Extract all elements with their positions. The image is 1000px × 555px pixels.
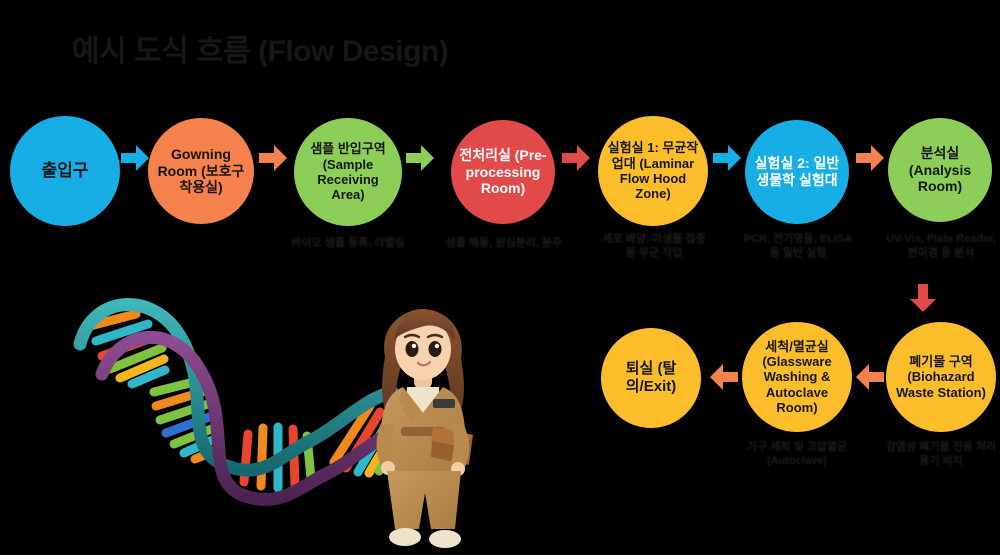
arrow-washing-to-exit	[709, 362, 739, 392]
flow-node-lab-1-laminar-flow-hood[interactable]: 실험실 1: 무균작업대 (Laminar Flow Hood Zone)	[598, 116, 708, 226]
arrow-lab1-to-lab2	[712, 143, 742, 173]
flow-node-label: 실험실 1: 무균작업대 (Laminar Flow Hood Zone)	[604, 140, 702, 201]
flow-node-label: 퇴실 (탈의/Exit)	[607, 360, 695, 395]
flow-node-label: 폐기물 구역 (Biohazard Waste Station)	[892, 354, 990, 400]
flow-node-sample-receiving-area[interactable]: 샘플 반입구역 (Sample Receiving Area)	[294, 118, 402, 226]
flow-node-caption-lab-2-general-biology-bench: PCR, 전기영동, ELISA 등 일반 실험	[742, 232, 854, 260]
arrow-sample-to-preprocessing	[405, 143, 435, 173]
flow-node-lab-2-general-biology-bench[interactable]: 실험실 2: 일반 생물학 실험대	[745, 120, 849, 224]
scientist-character-illustration	[345, 305, 500, 555]
flow-node-glassware-washing-autoclave-room[interactable]: 세척/멸균실 (Glassware Washing & Autoclave Ro…	[742, 322, 852, 432]
flow-node-biohazard-waste-station[interactable]: 폐기물 구역 (Biohazard Waste Station)	[886, 322, 996, 432]
flow-node-label: 실험실 2: 일반 생물학 실험대	[751, 155, 843, 188]
flow-node-label: 분석실 (Analysis Room)	[894, 145, 986, 195]
flow-node-entrance[interactable]: 출입구	[10, 116, 120, 226]
flow-diagram-canvas: 예시 도식 흐름 (Flow Design)	[0, 0, 1000, 555]
flow-node-caption-analysis-room: UV-Vis, Plate Reader, 현미경 등 분석	[886, 232, 996, 260]
flow-node-caption-pre-processing-room: 샘플 해동, 원심분리, 분주	[445, 236, 563, 250]
flow-node-label: 전처리실 (Pre-processing Room)	[457, 147, 549, 197]
flow-node-caption-glassware-washing-autoclave-room: 기구 세척 및 고압멸균(Autoclave)	[740, 440, 854, 468]
flow-node-label: 세척/멸균실 (Glassware Washing & Autoclave Ro…	[748, 339, 846, 416]
page-title: 예시 도식 흐름 (Flow Design)	[72, 26, 448, 70]
flow-node-label: 출입구	[16, 161, 114, 181]
flow-node-caption-lab-1-laminar-flow-hood: 세포 배양, 미생물 접종 등 무균 작업	[597, 232, 711, 260]
arrow-entrance-to-gowning	[120, 143, 150, 173]
flow-node-caption-sample-receiving-area: 바이오 샘플 등록, 라벨링	[288, 236, 408, 250]
flow-node-pre-processing-room[interactable]: 전처리실 (Pre-processing Room)	[451, 120, 555, 224]
flow-node-exit[interactable]: 퇴실 (탈의/Exit)	[601, 328, 701, 428]
arrow-gowning-to-sample	[258, 143, 288, 173]
flow-node-label: Gowning Room (보호구 착용실)	[154, 146, 248, 196]
arrow-waste-to-washing	[855, 362, 885, 392]
arrow-analysis-to-waste	[908, 283, 938, 313]
flow-node-gowning-room[interactable]: Gowning Room (보호구 착용실)	[148, 118, 254, 224]
flow-node-caption-biohazard-waste-station: 감염성 폐기물 전용 처리 용기 비치	[884, 440, 998, 468]
flow-node-label: 샘플 반입구역 (Sample Receiving Area)	[300, 141, 396, 202]
arrow-lab2-to-analysis	[855, 143, 885, 173]
arrow-preprocessing-to-lab1	[561, 143, 591, 173]
flow-node-analysis-room[interactable]: 분석실 (Analysis Room)	[888, 118, 992, 222]
